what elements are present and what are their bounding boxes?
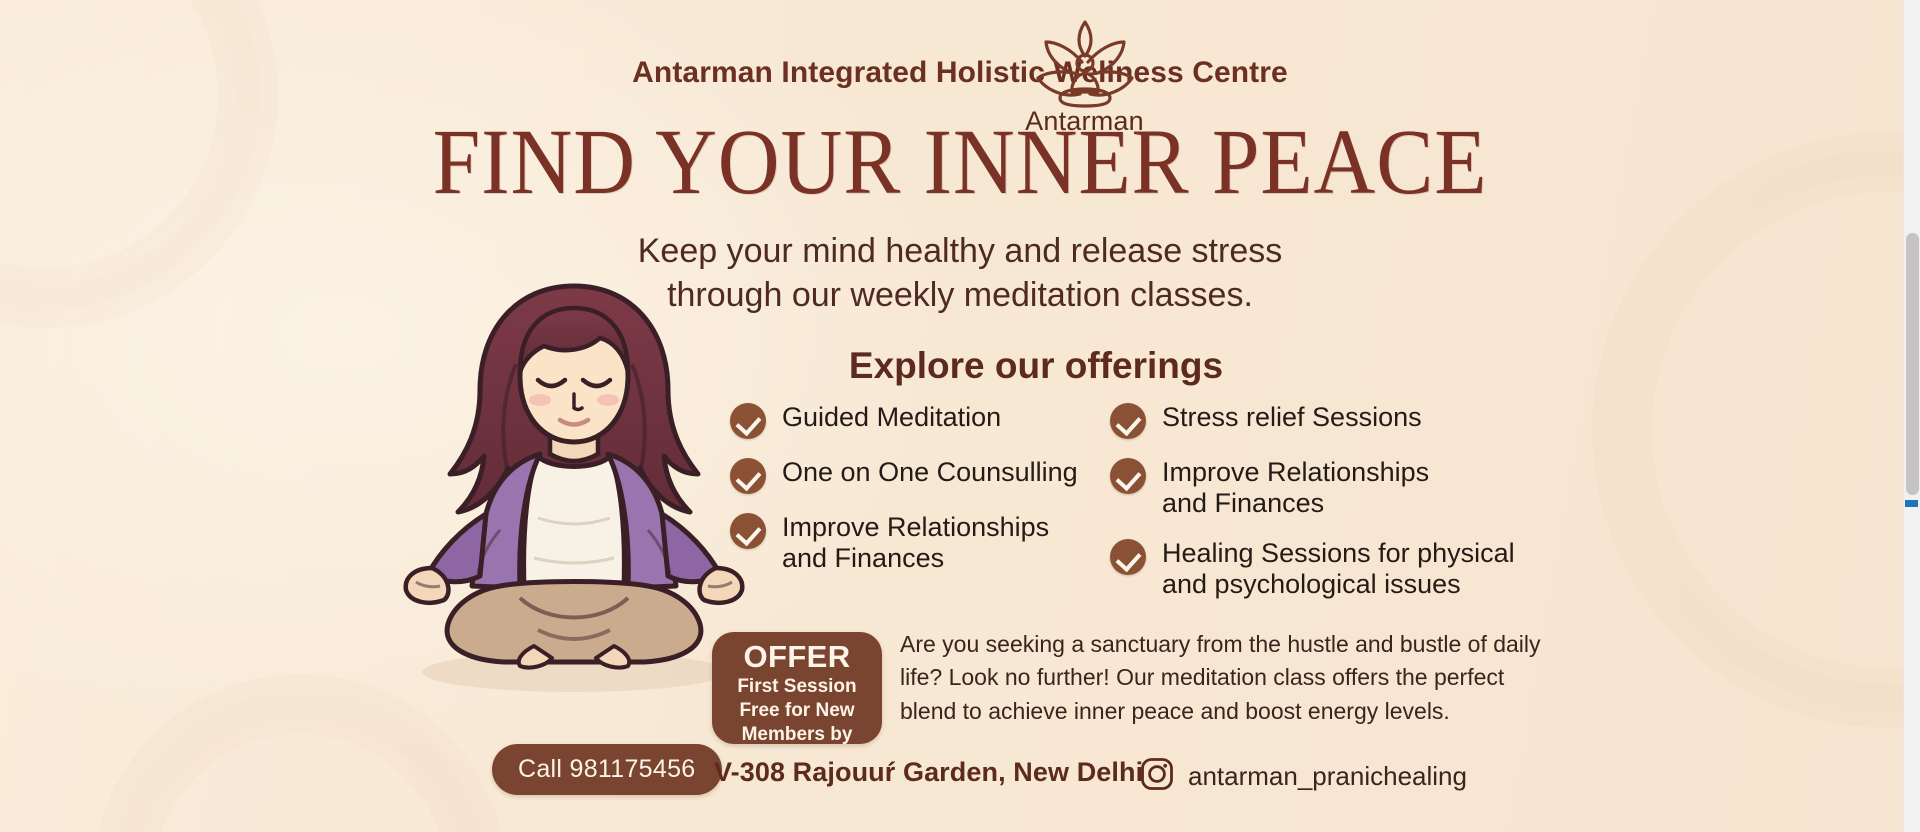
offering-label: Guided Meditation xyxy=(782,400,1001,433)
offer-badge-title: OFFER xyxy=(712,641,882,674)
offering-label: One on One Counsulling xyxy=(782,455,1078,488)
background-mandala-bottom xyxy=(110,692,490,832)
poster-canvas: Antarman Integrated Holistic Weliness Ce… xyxy=(0,0,1920,832)
description-paragraph: Are you seeking a sanctuary from the hus… xyxy=(900,628,1560,728)
scrollbar-marker[interactable] xyxy=(1905,500,1918,507)
page-title: FIND YOUR INNER PEACE xyxy=(77,116,1843,211)
centre-name: Antarman Integrated Holistic Weliness Ce… xyxy=(0,56,1920,90)
check-circle-icon xyxy=(730,403,766,439)
offerings-column-left: Guided Meditation One on One Counsulling… xyxy=(730,400,1110,591)
scrollbar-thumb[interactable] xyxy=(1906,233,1919,495)
list-item: Guided Meditation xyxy=(730,400,1110,439)
vertical-scrollbar[interactable] xyxy=(1903,0,1920,832)
social-link[interactable]: antarman_pranichealing xyxy=(1140,757,1467,796)
offering-label: Stress relief Sessions xyxy=(1162,400,1422,433)
check-circle-icon xyxy=(1110,403,1146,439)
list-item: Stress relief Sessions xyxy=(1110,400,1540,439)
offerings-column-right: Stress relief Sessions Improve Relations… xyxy=(1110,400,1540,616)
offer-badge-line-1: First Session xyxy=(712,676,882,698)
list-item: Improve Relationships and Finances xyxy=(1110,455,1540,520)
instagram-handle[interactable]: antarman_pranichealing xyxy=(1188,761,1467,792)
list-item: One on One Counsulling xyxy=(730,455,1110,494)
list-item: Healing Sessions for physical and psycho… xyxy=(1110,536,1540,601)
list-item: Improve Relationships and Finances xyxy=(730,510,1110,575)
instagram-icon[interactable] xyxy=(1140,757,1174,796)
hero-subhead-line-1: Keep your mind healthy and release stres… xyxy=(0,230,1920,274)
offering-label: Improve Relationships and Finances xyxy=(782,510,1049,575)
address-text: V-308 Rajouuŕ Garden, New Delhi xyxy=(714,757,1143,788)
offerings-heading: Explore our offerings xyxy=(836,345,1236,387)
check-circle-icon xyxy=(730,513,766,549)
offer-badge-line-3: Members by xyxy=(712,724,882,744)
offer-badge: OFFER First Session Free for New Members… xyxy=(712,632,882,744)
check-circle-icon xyxy=(730,458,766,494)
offering-label: Improve Relationships and Finances xyxy=(1162,455,1429,520)
offering-label: Healing Sessions for physical and psycho… xyxy=(1162,536,1515,601)
check-circle-icon xyxy=(1110,539,1146,575)
lotus-meditation-icon xyxy=(1017,18,1152,110)
meditating-woman-illustration xyxy=(388,268,760,698)
check-circle-icon xyxy=(1110,458,1146,494)
hero-subhead: Keep your mind healthy and release stres… xyxy=(0,230,1920,318)
offer-badge-line-2: Free for New xyxy=(712,700,882,722)
call-button[interactable]: Call 981175456 xyxy=(492,744,722,795)
hero-subhead-line-2: through our weekly meditation classes. xyxy=(0,274,1920,318)
